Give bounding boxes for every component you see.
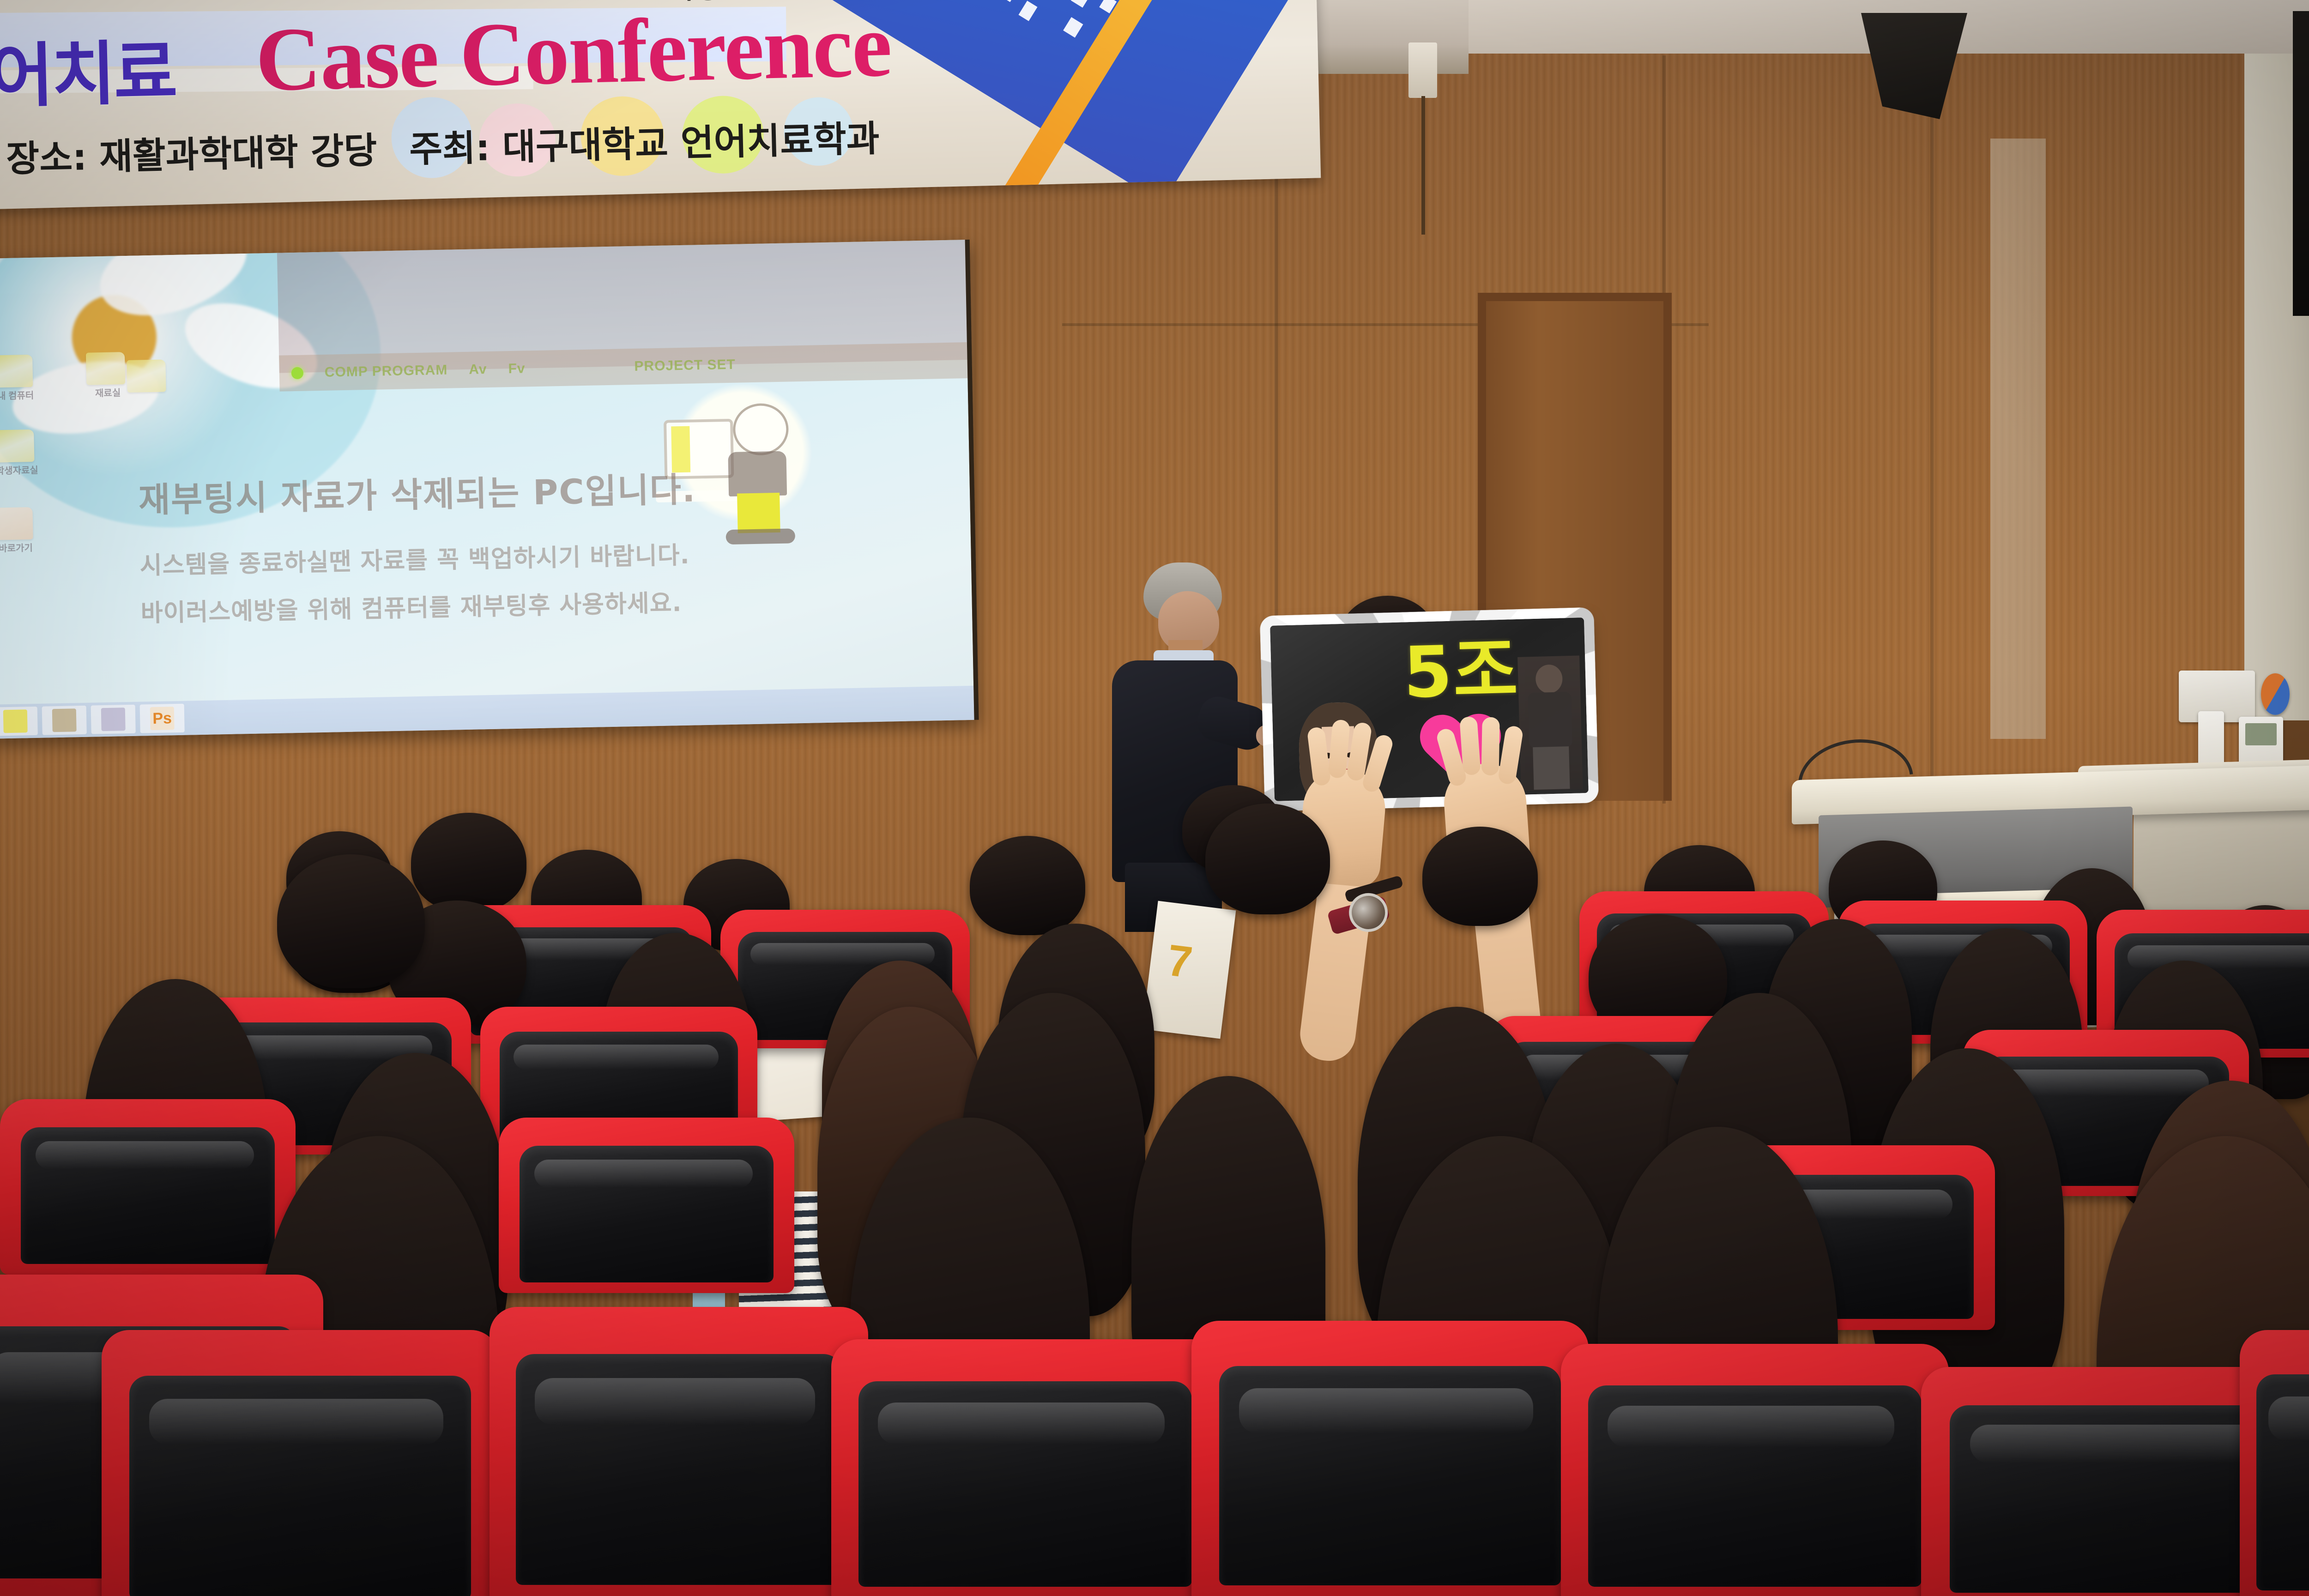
- audience-head: [277, 854, 425, 988]
- wall-speaker-icon: [2293, 11, 2309, 316]
- desktop-icon-label: 학생자료실: [0, 465, 38, 477]
- taskbar-item-3[interactable]: Ps: [140, 704, 185, 733]
- desktop-icon-0[interactable]: 내 컴퓨터: [0, 355, 37, 402]
- taskbar-item-0[interactable]: [0, 707, 38, 736]
- wall-clock-decoration-icon: [2261, 673, 2290, 715]
- notice-line-2: 시스템을 종료하실땐 자료를 꼭 백업하시기 바랍니다.: [139, 533, 833, 581]
- audience-head: [1422, 827, 1538, 926]
- projector-screen-mount-icon: [1408, 42, 1437, 98]
- wall-seam: [1930, 55, 1934, 776]
- desktop-icon-label: 내 컴퓨터: [0, 391, 37, 402]
- desktop-icon-2[interactable]: 학생자료실: [0, 429, 38, 477]
- thermostat-display: [2245, 723, 2277, 745]
- desktop-icon-1[interactable]: 재료실: [86, 352, 129, 399]
- seat-chair-front[interactable]: [831, 1339, 1219, 1596]
- finger: [1481, 717, 1500, 776]
- cartoon-head-icon: [732, 403, 789, 456]
- wall-pilaster: [1990, 139, 2046, 739]
- slide-notice-text: 재부팅시 자료가 삭제되는 PC입니다. 시스템을 종료하실땐 자료를 꼭 백업…: [138, 459, 834, 641]
- banner-korean-prefix: 언어치료: [0, 17, 176, 123]
- taskbar-item-1[interactable]: [42, 706, 87, 735]
- seat-chair-front[interactable]: [1191, 1321, 1589, 1596]
- desktop-icon-label: 바로가기: [0, 543, 37, 554]
- desktop-icon-extra[interactable]: [127, 359, 169, 393]
- desktop-icon-3[interactable]: 바로가기: [0, 507, 37, 554]
- folder-icon: [127, 359, 166, 393]
- status-right-label: PROJECT SET: [634, 357, 736, 375]
- seat-chair[interactable]: [499, 1118, 794, 1293]
- audience-head: [411, 813, 526, 912]
- seat-chair-front[interactable]: [2240, 1330, 2309, 1596]
- portrait-head: [1535, 664, 1563, 693]
- status-mid-label-2: Fv: [508, 361, 526, 377]
- event-banner: 언어치료 Case Conference 학생이 행복한 대학 대구대학교 후 …: [0, 0, 1321, 211]
- seat-chair-front[interactable]: [490, 1307, 868, 1596]
- seat-chair-front[interactable]: [102, 1330, 499, 1596]
- auditorium-scene: 언어치료 Case Conference 학생이 행복한 대학 대구대학교 후 …: [0, 0, 2309, 1596]
- status-indicator-icon: [291, 367, 303, 379]
- banner-title: Case Conference: [254, 0, 892, 112]
- media-icon: [101, 707, 126, 731]
- photoshop-icon: Ps: [150, 707, 175, 730]
- notepad-icon: [3, 709, 28, 733]
- taskbar-item-2[interactable]: [91, 705, 136, 734]
- audience-head: [970, 836, 1085, 935]
- audience-head: [1205, 804, 1330, 914]
- folder-icon: [0, 429, 34, 463]
- desktop-icon-label: 재료실: [86, 388, 129, 399]
- status-mid-label-1: Av: [469, 362, 487, 378]
- team-number-card: 7: [1142, 901, 1236, 1039]
- notice-line-3: 바이러스예방을 위해 컴퓨터를 재부팅후 사용하세요.: [140, 580, 834, 629]
- portrait-body: [1528, 692, 1572, 748]
- folder-icon: [0, 355, 33, 388]
- document-icon: [52, 708, 77, 732]
- team-number-card-value: 7: [1164, 935, 1195, 989]
- seat-chair[interactable]: [0, 1099, 296, 1275]
- shortcut-icon: [0, 507, 33, 540]
- team-number-label: 5조: [1402, 635, 1520, 708]
- banner-place: 장소: 재활과학대학 강당: [6, 121, 378, 182]
- projection-screen: COMP PROGRAM Av Fv PROJECT SET 내 컴퓨터 재료실…: [0, 240, 979, 739]
- seat-chair-front[interactable]: [1561, 1344, 1949, 1596]
- folder-icon: [86, 352, 125, 385]
- banner-host: 주최: 대구대학교 언어치료학과: [409, 110, 880, 173]
- status-left-label: COMP PROGRAM: [325, 363, 448, 381]
